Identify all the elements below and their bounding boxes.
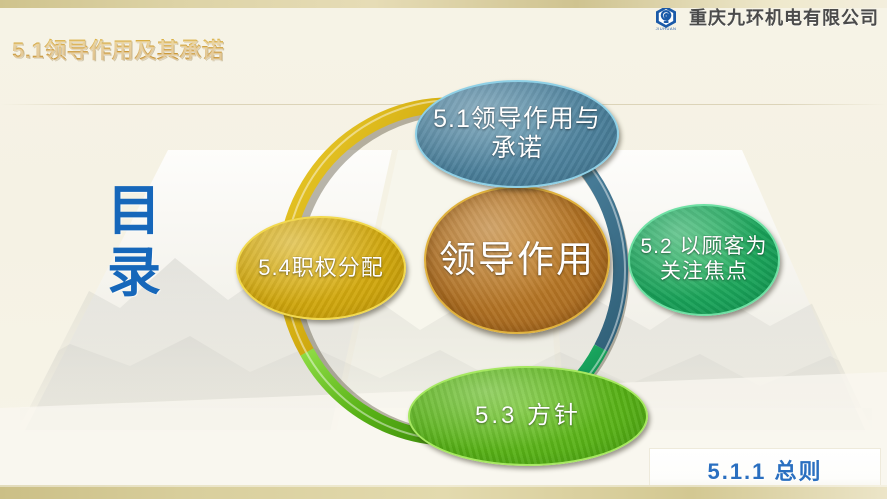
node-5-3-policy[interactable]: 5.3 方针 xyxy=(408,366,648,466)
toc-char-1: 目 xyxy=(96,180,172,242)
bottom-accent-bar xyxy=(0,485,887,499)
toc-char-2: 录 xyxy=(96,242,172,304)
slide-canvas: JIUHUAN 重庆九环机电有限公司 5.1领导作用及其承诺 5.1领导作用及其… xyxy=(0,0,887,499)
page-title: 5.1领导作用及其承诺 xyxy=(12,33,224,65)
node-left-label: 5.4职权分配 xyxy=(252,255,390,281)
section-caption-text: 5.1.1 总则 xyxy=(707,454,822,486)
node-top-label: 5.1领导作用与承诺 xyxy=(417,105,617,164)
node-center-label: 领导作用 xyxy=(433,238,601,282)
logo-subtext: JIUHUAN xyxy=(651,27,681,31)
node-5-2-customer-focus[interactable]: 5.2 以顾客为关注焦点 xyxy=(628,204,780,316)
node-5-4-authority-allocation[interactable]: 5.4职权分配 xyxy=(236,216,406,320)
toc-heading: 目 录 xyxy=(96,180,172,304)
node-right-label: 5.2 以顾客为关注焦点 xyxy=(630,235,778,285)
top-accent-bar xyxy=(0,0,887,8)
node-bottom-label: 5.3 方针 xyxy=(469,402,587,430)
node-center-leadership[interactable]: 领导作用 xyxy=(424,186,610,334)
node-5-1-leadership-commitment[interactable]: 5.1领导作用与承诺 xyxy=(415,80,619,188)
